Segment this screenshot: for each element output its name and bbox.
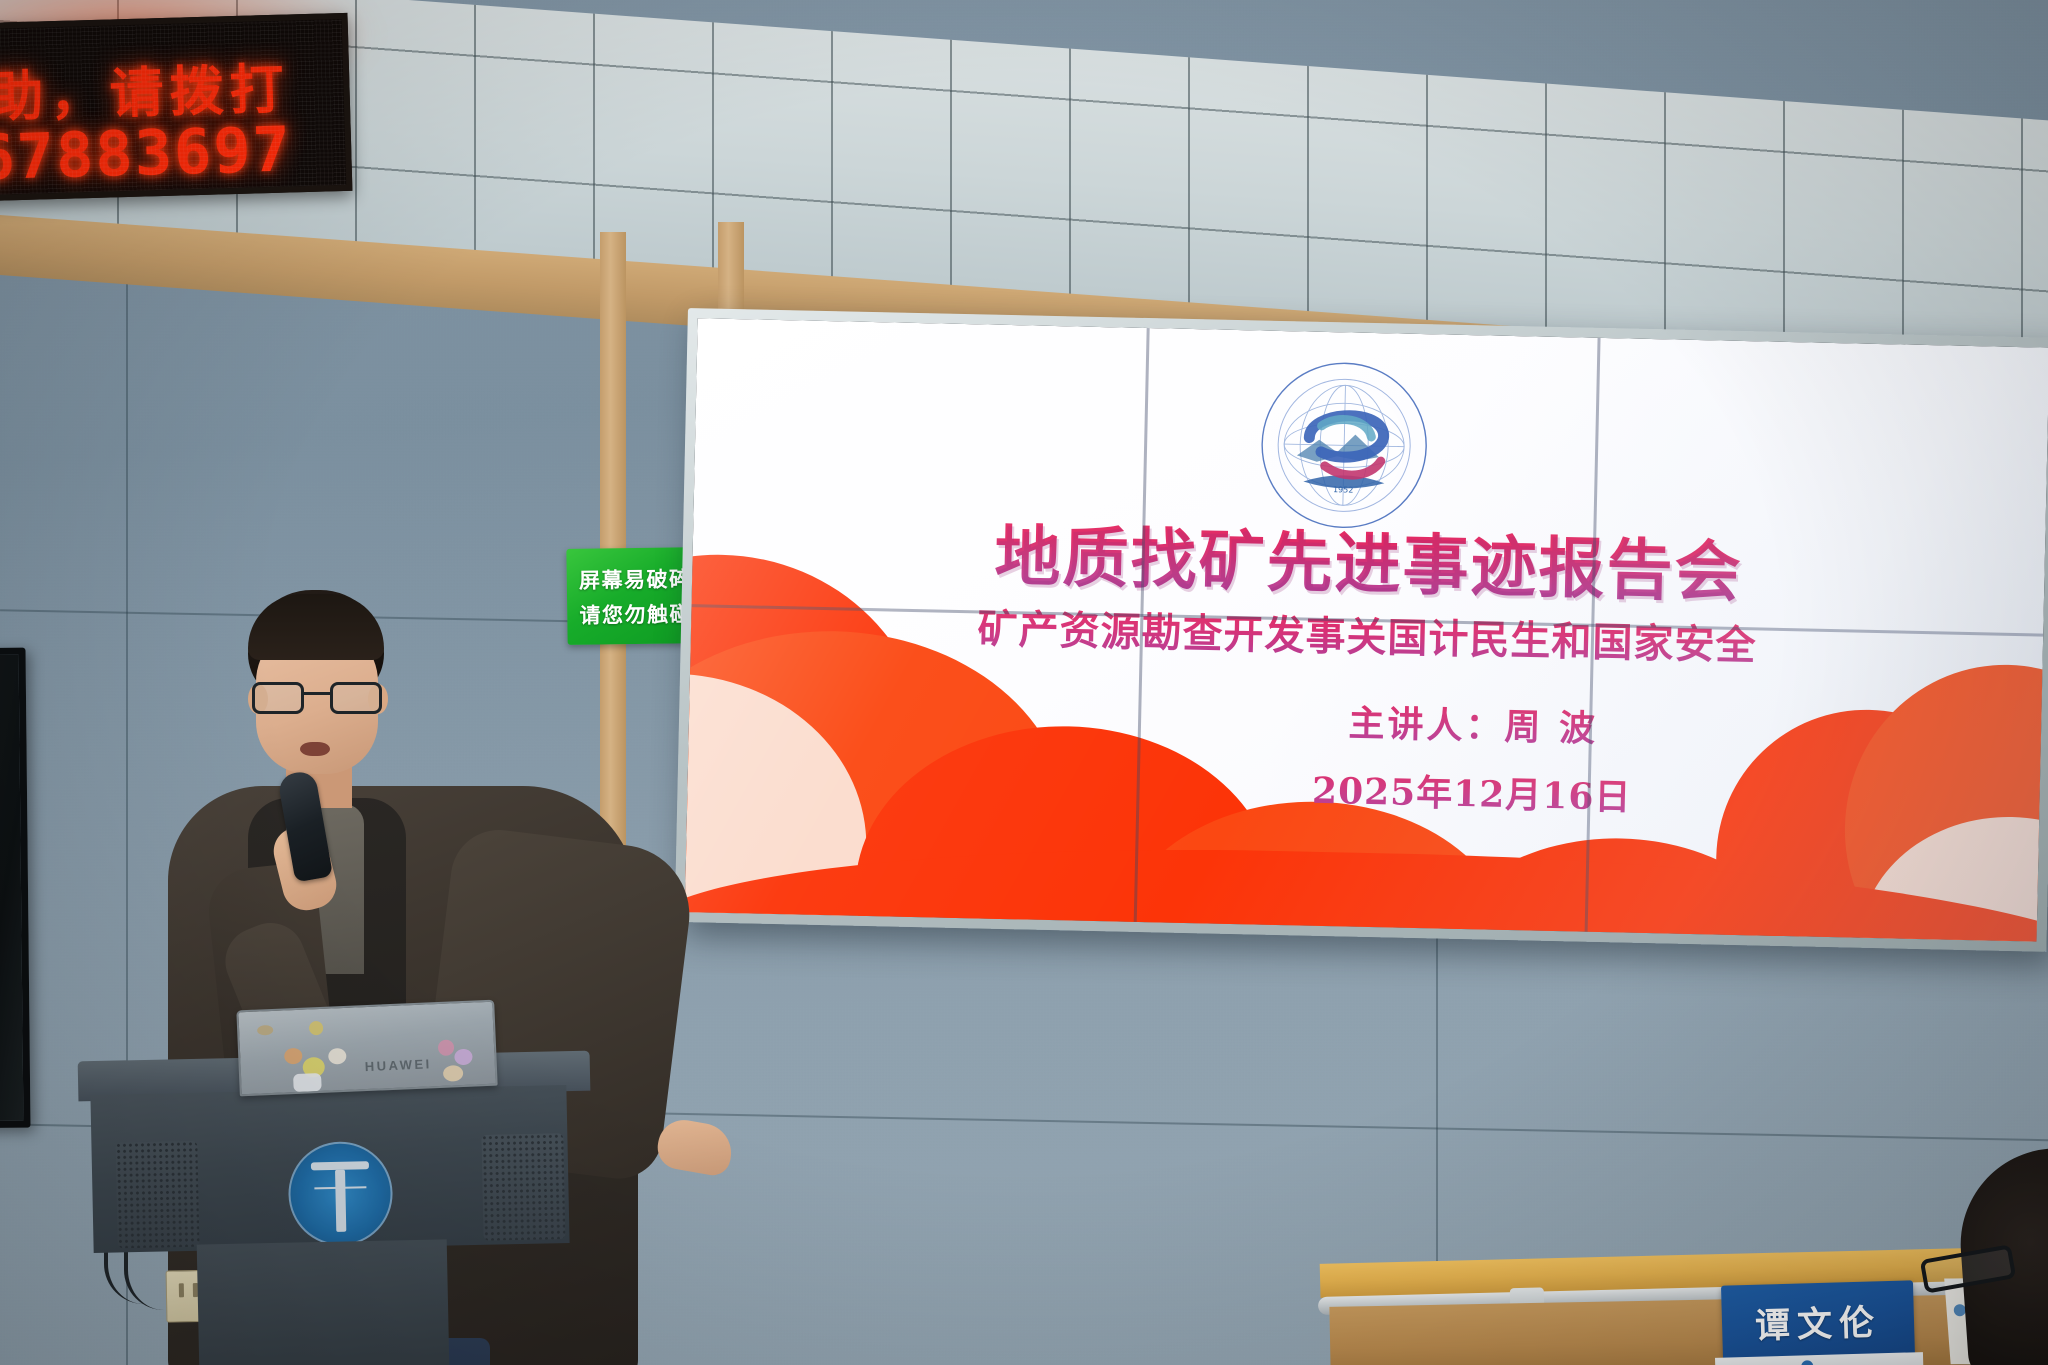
glasses-lens-left [252,682,304,714]
svg-text:1952: 1952 [1333,485,1354,494]
led-sign-line-2: 67883697 [0,112,293,194]
laptop-sticker-3 [284,1048,303,1065]
laptop-sticker-2 [309,1021,324,1036]
laptop-sticker-1 [257,1025,273,1036]
lectern-podium[interactable] [78,1056,590,1365]
glasses-lens-right [330,682,382,714]
video-wall-screen[interactable]: 1952 地质找矿先进事迹报告会 矿产资源勘查开发事关国计民生和国家安全 主讲人… [685,318,2048,941]
glasses-bridge [304,692,330,695]
attendee-name-plate: 谭文伦 [1721,1280,1915,1361]
laptop-brand-label: HUAWEI [364,1056,432,1074]
laptop-sticker-7 [438,1039,455,1056]
name-plate-text: 谭文伦 [1754,1294,1881,1348]
laptop-sticker-6 [293,1073,322,1092]
university-logo-podium [287,1141,393,1247]
led-scrolling-sign: 助，请拨打 67883697 [0,13,352,201]
attendee-table [1329,1293,2048,1365]
lecture-hall-scene: 助，请拨打 67883697 屏幕易破碎 请您勿触碰 [0,0,2048,1365]
name-plate-face: 谭文伦 [1721,1280,1915,1361]
slide-speaker: 主讲人：周 波 [1348,695,1599,752]
laptop-lid[interactable]: HUAWEI [236,1000,497,1097]
podium-speaker-grill-left [115,1141,199,1249]
video-wall-display[interactable]: 1952 地质找矿先进事迹报告会 矿产资源勘查开发事关国计民生和国家安全 主讲人… [675,308,2048,952]
podium-logo-stem [335,1170,346,1232]
laptop-sticker-8 [454,1049,473,1066]
laptop-sticker-9 [443,1065,464,1082]
podium-front-panel [90,1085,569,1253]
school-logo: 1952 [1257,359,1431,533]
laptop-sticker-5 [328,1048,347,1065]
presenter-mouth [300,742,330,756]
glasses-icon [248,682,388,716]
slide-date: 2025年12月16日 [1312,762,1632,821]
side-display-monitor[interactable] [0,648,31,1129]
name-plate-logo-icon [1801,1360,1813,1365]
presenter-hair-top [248,594,384,660]
podium-column [197,1239,450,1365]
podium-speaker-grill-right [481,1133,565,1241]
